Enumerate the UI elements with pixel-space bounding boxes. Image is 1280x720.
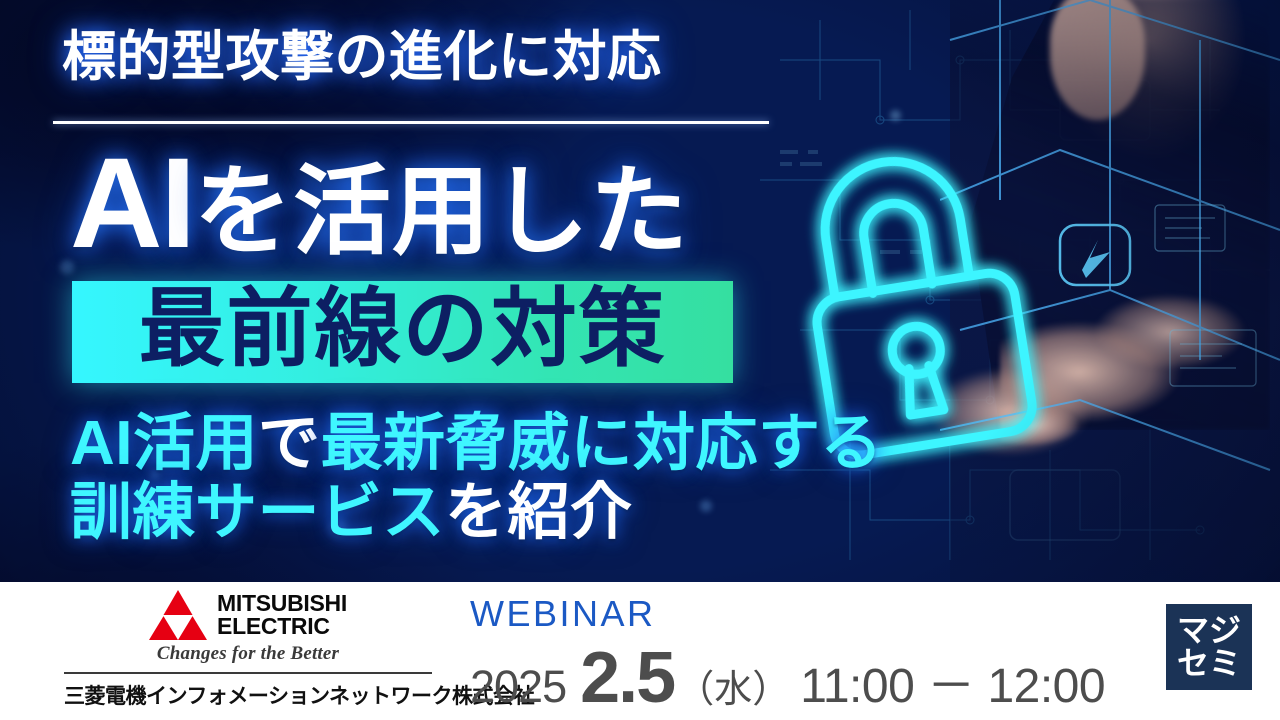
subtitle-line-2: 訓練サービスを紹介: [70, 478, 883, 547]
webinar-weekday: （水）: [676, 671, 790, 709]
subtitle-line-1: AI活用で最新脅威に対応する: [70, 409, 883, 478]
webinar-time: 11:00 － 12:00: [800, 663, 1105, 711]
headline-jp: を活用した: [194, 156, 689, 266]
host-logo-line2: セミ: [1177, 647, 1241, 680]
subtitle-seg-ai-katsuyou: AI活用: [70, 409, 258, 478]
webinar-day: 2.5: [580, 642, 674, 714]
page-title: AIを活用した: [70, 140, 689, 268]
eyebrow-heading: 標的型攻撃の進化に対応: [62, 30, 662, 84]
webinar-label: WEBINAR: [470, 596, 1105, 632]
webinar-year: 2025: [470, 664, 566, 709]
webinar-datetime: 2025 2.5 （水） 11:00 － 12:00: [470, 642, 1105, 714]
subtitle: AI活用で最新脅威に対応する 訓練サービスを紹介: [70, 409, 883, 548]
mitsubishi-wordmark: MITSUBISHI ELECTRIC: [217, 592, 347, 638]
subtitle-seg-threat: 最新脅威に対応する: [321, 409, 884, 478]
subtitle-seg-de: で: [258, 409, 321, 478]
webinar-info: WEBINAR 2025 2.5 （水） 11:00 － 12:00: [470, 596, 1105, 714]
highlight-band-text: 最前線の対策: [139, 286, 667, 372]
mitsubishi-tagline: Changes for the Better: [64, 643, 432, 665]
mitsubishi-logo: MITSUBISHI ELECTRIC: [64, 590, 432, 640]
subtitle-seg-training-service: 訓練サービス: [70, 478, 445, 547]
webinar-banner: 標的型攻撃の進化に対応 AIを活用した 最前線の対策 AI活用で最新脅威に対応す…: [0, 0, 1280, 720]
sponsor-divider: [64, 672, 432, 674]
mitsubishi-word-line2: ELECTRIC: [217, 615, 347, 638]
host-logo-line1: マジ: [1177, 614, 1241, 647]
highlight-band: 最前線の対策: [72, 281, 733, 383]
divider-rule: [53, 121, 769, 124]
sponsor-company-name: 三菱電機インフォメーションネットワーク株式会社: [64, 680, 432, 710]
host-logo: マジ セミ: [1166, 604, 1252, 690]
footer-bar: MITSUBISHI ELECTRIC Changes for the Bett…: [0, 582, 1280, 720]
sponsor-logo-block: MITSUBISHI ELECTRIC Changes for the Bett…: [64, 590, 432, 710]
headline-ai: AI: [70, 132, 194, 275]
mitsubishi-diamond-icon: [149, 590, 207, 640]
subtitle-seg-intro: を紹介: [445, 478, 633, 547]
mitsubishi-word-line1: MITSUBISHI: [217, 592, 347, 615]
